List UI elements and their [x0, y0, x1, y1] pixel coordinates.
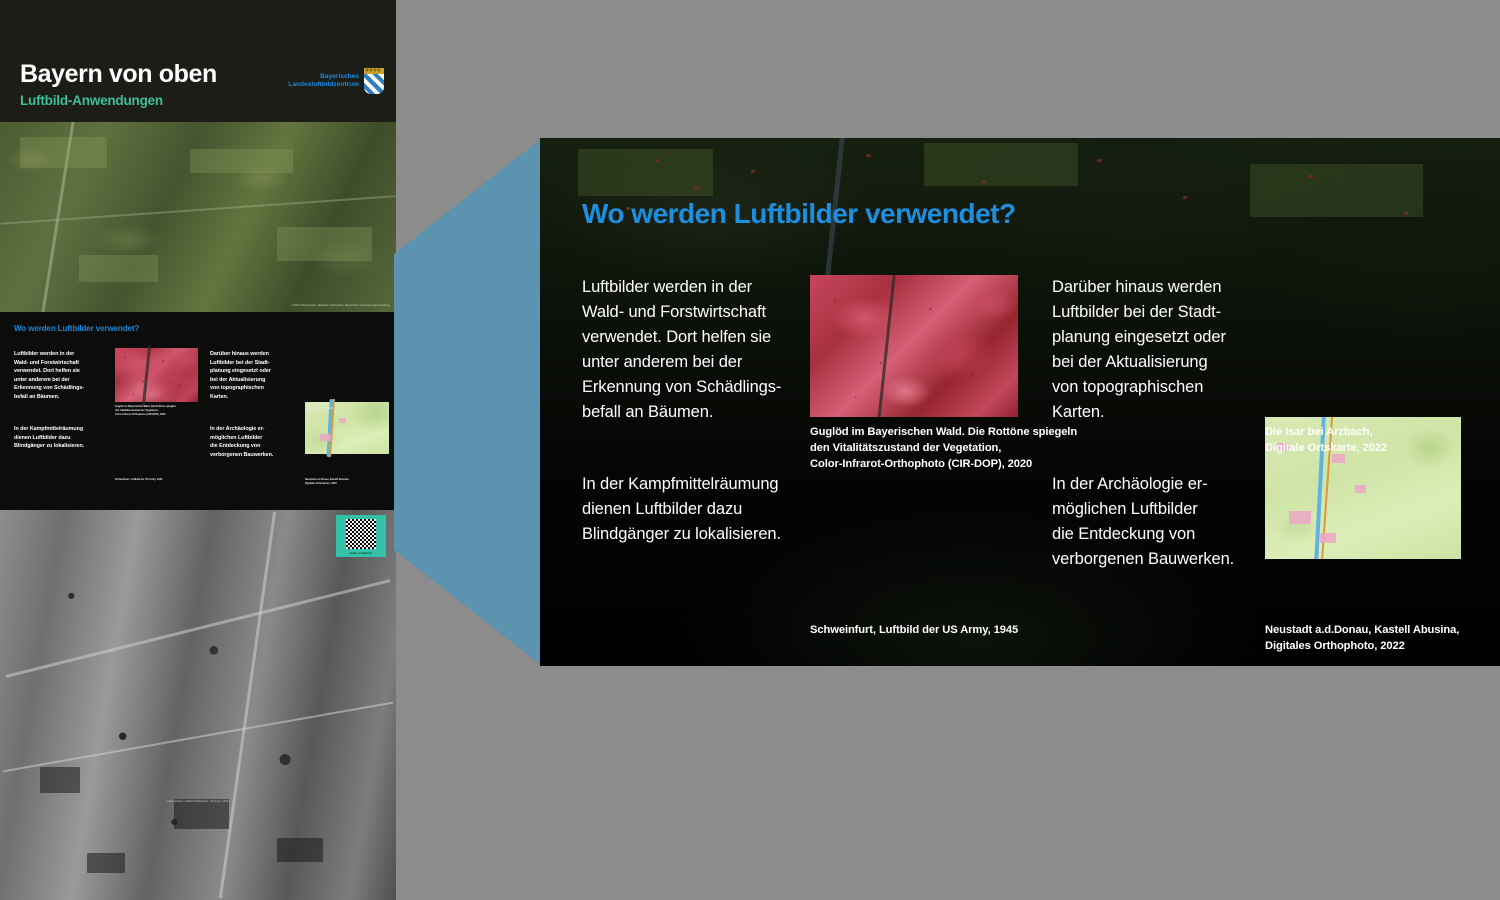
panel-title: Wo werden Luftbilder verwendet?: [582, 198, 1016, 230]
settlement-patch: [1320, 533, 1336, 543]
settlement-patch: [1355, 485, 1366, 493]
mini-caption-urban: Die Isar bei Arzbach, Digitale Ortskarte…: [305, 403, 391, 411]
mini-panel-title: Wo werden Luftbilder verwendet?: [14, 324, 139, 333]
road-line: [6, 579, 391, 678]
qr-code-caption: mehr erfahren: [340, 551, 382, 555]
photo-credit: Historisches Luftbild Schweinfurt, US Ar…: [168, 800, 229, 804]
logo-text: Bayerisches Landesluftbildzentrum: [288, 73, 359, 89]
photo-credit: Luftbild Oberbayern, Digitales Orthophot…: [291, 304, 390, 308]
caption-archaeology: Neustadt a.d.Donau, Kastell Abusina, Dig…: [1265, 623, 1500, 655]
field-patch: [277, 227, 372, 261]
building-dot: [694, 186, 699, 189]
mini-text-forestry: Luftbilder werden in der Wald- und Forst…: [14, 350, 102, 401]
caption-forestry: Guglöd im Bayerischen Wald. Die Rottöne …: [810, 425, 1140, 473]
image-texture: [810, 275, 1018, 417]
detail-panel[interactable]: Wo werden Luftbilder verwendet? Luftbild…: [540, 138, 1500, 666]
poster-content-block: Wo werden Luftbilder verwendet? Luftbild…: [0, 312, 396, 510]
mini-text-ordnance: In der Kampfmittelräumung dienen Luftbil…: [14, 425, 109, 451]
field-patch: [20, 137, 107, 167]
exhibition-poster[interactable]: Bayern von oben Luftbild-Anwendungen Bay…: [0, 0, 396, 900]
field-patch: [578, 149, 712, 197]
mini-cir-infrared-image: [115, 348, 198, 402]
building-block: [87, 853, 125, 873]
field-patch: [1250, 164, 1423, 217]
settlement-patch: [1289, 511, 1311, 524]
poster-subtitle: Luftbild-Anwendungen: [20, 93, 163, 108]
building-block: [277, 838, 323, 862]
qr-code-pattern: [346, 519, 376, 549]
poster-bottom-historical-photo: mehr erfahren Historisches Luftbild Schw…: [0, 510, 396, 900]
zoom-connector-arrow: [394, 138, 542, 666]
text-urban-planning: Darüber hinaus werden Luftbilder bei der…: [1052, 275, 1267, 425]
road-line: [3, 702, 393, 773]
field-patch: [924, 143, 1078, 185]
field-patch: [190, 149, 293, 174]
building-dot: [1308, 175, 1313, 178]
mini-text-archaeology: In der Archäologie er- möglichen Luftbil…: [210, 425, 300, 459]
mini-text-urban: Darüber hinaus werden Luftbilder bei der…: [210, 350, 296, 401]
building-dot: [1183, 196, 1187, 199]
building-dot: [1097, 159, 1102, 162]
poster-header: Bayern von oben Luftbild-Anwendungen Bay…: [0, 0, 396, 122]
settlement-patch: [339, 418, 346, 423]
field-patch: [79, 255, 158, 282]
organisation-logo: Bayerisches Landesluftbildzentrum: [288, 68, 384, 94]
building-dot: [655, 159, 659, 162]
building-dot: [751, 170, 755, 173]
poster-title: Bayern von oben: [20, 60, 217, 89]
building-dot: [982, 180, 986, 183]
qr-code[interactable]: mehr erfahren: [336, 515, 386, 557]
mini-caption-archaeology: Neustadt a.d.Donau, Kastell Abusina, Dig…: [305, 478, 391, 486]
mini-caption-forestry: Guglöd im Bayerischen Wald. Die Rottöne …: [115, 405, 201, 417]
image-texture: [115, 348, 198, 402]
building-block: [40, 767, 80, 793]
building-dot: [866, 154, 871, 157]
text-ordnance-clearance: In der Kampfmittelräumung dienen Luftbil…: [582, 472, 832, 547]
caption-urban-planning: Die Isar bei Arzbach, Digitale Ortskarte…: [1265, 425, 1495, 457]
text-archaeology: In der Archäologie er- möglichen Luftbil…: [1052, 472, 1277, 572]
text-forestry: Luftbilder werden in der Wald- und Forst…: [582, 275, 822, 425]
building-dot: [1404, 212, 1408, 215]
poster-top-aerial-photo: Luftbild Oberbayern, Digitales Orthophot…: [0, 122, 396, 312]
caption-ordnance-clearance: Schweinfurt, Luftbild der US Army, 1945: [810, 623, 1140, 639]
bavarian-coat-of-arms-icon: [364, 68, 384, 94]
road-line: [218, 512, 275, 899]
crown-icon: [364, 68, 384, 74]
settlement-patch: [320, 434, 331, 441]
mini-caption-ordnance: Schweinfurt, Luftbild der US Army, 1945: [115, 478, 201, 482]
cir-infrared-forest-image: [810, 275, 1018, 417]
